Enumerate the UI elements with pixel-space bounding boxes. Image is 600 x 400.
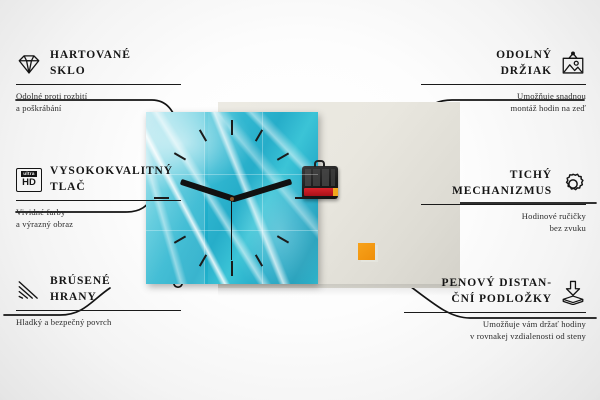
diamond-icon xyxy=(16,51,42,77)
ultra-hd-badge-icon: ultra HD xyxy=(16,168,42,192)
badge-hd-label: HD xyxy=(22,178,36,188)
divider xyxy=(16,84,181,85)
battery-positive-tip xyxy=(333,188,338,196)
feature-description: Hodinové ručičky bez zvuku xyxy=(421,210,586,235)
second-hand xyxy=(231,198,232,260)
feature-durable-holder: ODOLNÝ DRŽIAK Umožňuje snadnou montáž ho… xyxy=(421,48,586,115)
divider xyxy=(421,84,586,85)
hatch-lines-icon xyxy=(16,277,42,303)
feature-description: Hladký a bezpečný povrch xyxy=(16,316,181,328)
hanging-picture-icon xyxy=(560,51,586,77)
feature-description: Vividné farby a výrazný obraz xyxy=(16,206,181,231)
feature-title: BRÚSENÉ HRANY xyxy=(50,274,181,305)
feature-tempered-glass: HARTOVANÉ SKLO Odolné proti rozbití a po… xyxy=(16,48,181,115)
mechanism-housing-detail xyxy=(305,169,335,186)
feature-title: PENOVÝ DISTAN- ČNÍ PODLOŽKY xyxy=(404,276,552,307)
hour-hand xyxy=(180,179,237,203)
divider xyxy=(16,200,181,201)
feature-title: ODOLNÝ DRŽIAK xyxy=(421,48,552,79)
feature-title: TICHÝ MECHANIZMUS xyxy=(421,168,552,199)
feature-foam-spacers: PENOVÝ DISTAN- ČNÍ PODLOŽKY Umožňuje vám… xyxy=(404,276,586,343)
feature-title: VYSOKOKVALITNÝ TLAČ xyxy=(50,164,181,195)
product-photo xyxy=(140,98,460,296)
aa-battery xyxy=(304,188,334,196)
arrow-onto-stack-icon xyxy=(560,279,586,305)
feature-ground-edges: BRÚSENÉ HRANY Hladký a bezpečný povrch xyxy=(16,274,181,328)
foam-spacer-pad xyxy=(358,243,375,260)
divider xyxy=(421,204,586,205)
product-feature-infographic: HARTOVANÉ SKLO Odolné proti rozbití a po… xyxy=(0,0,600,400)
mechanism-hanger xyxy=(314,160,325,167)
gear-icon xyxy=(560,171,586,197)
feature-silent-mechanism: TICHÝ MECHANIZMUS Hodinové ručičky bez z… xyxy=(421,168,586,235)
clock-center-pin xyxy=(230,197,234,201)
divider xyxy=(404,312,586,313)
feature-description: Umožňuje vám držať hodiny v rovnakej vzd… xyxy=(404,318,586,343)
feature-title: HARTOVANÉ SKLO xyxy=(50,48,181,79)
divider xyxy=(16,310,181,311)
feature-description: Umožňuje snadnou montáž hodin na zeď xyxy=(421,90,586,115)
feature-description: Odolné proti rozbití a poškrábání xyxy=(16,90,181,115)
quartz-clock-mechanism xyxy=(302,166,338,199)
